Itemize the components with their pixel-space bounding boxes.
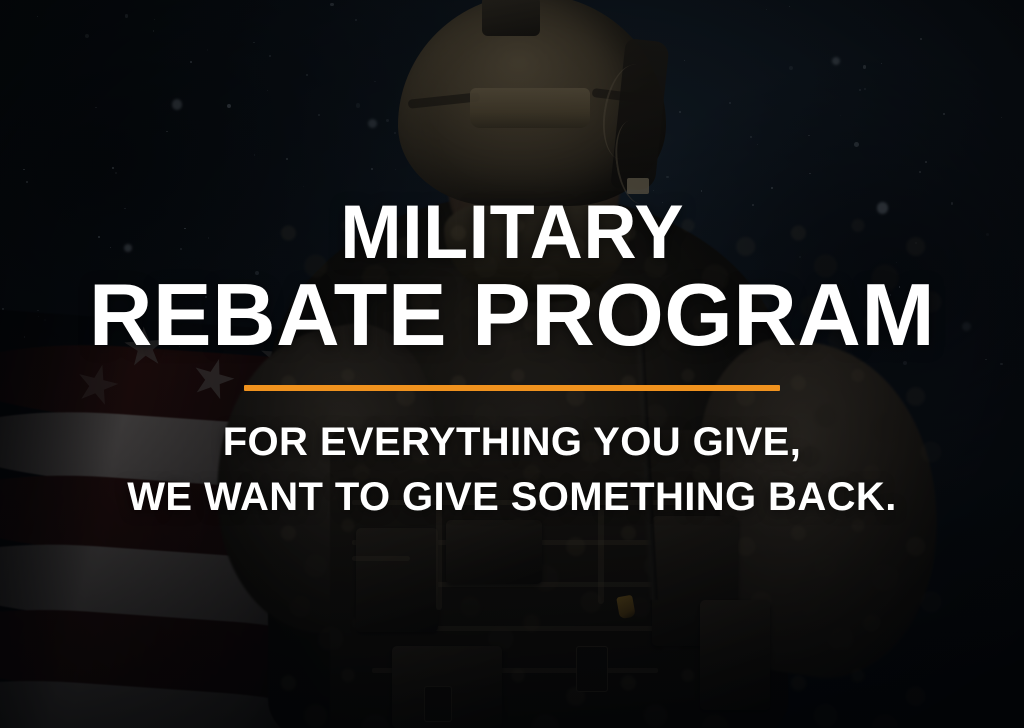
subtitle-line-1: FOR EVERYTHING YOU GIVE,	[127, 415, 896, 470]
military-rebate-banner: MILITARY REBATE PROGRAM FOR EVERYTHING Y…	[0, 0, 1024, 728]
page-title: MILITARY REBATE PROGRAM	[89, 196, 935, 357]
headline-line-2: REBATE PROGRAM	[89, 272, 935, 357]
subtitle-line-2: WE WANT TO GIVE SOMETHING BACK.	[127, 470, 896, 525]
accent-divider	[244, 385, 780, 391]
banner-subtitle: FOR EVERYTHING YOU GIVE, WE WANT TO GIVE…	[127, 415, 896, 525]
headline-line-1: MILITARY	[102, 196, 923, 270]
banner-content: MILITARY REBATE PROGRAM FOR EVERYTHING Y…	[0, 0, 1024, 728]
